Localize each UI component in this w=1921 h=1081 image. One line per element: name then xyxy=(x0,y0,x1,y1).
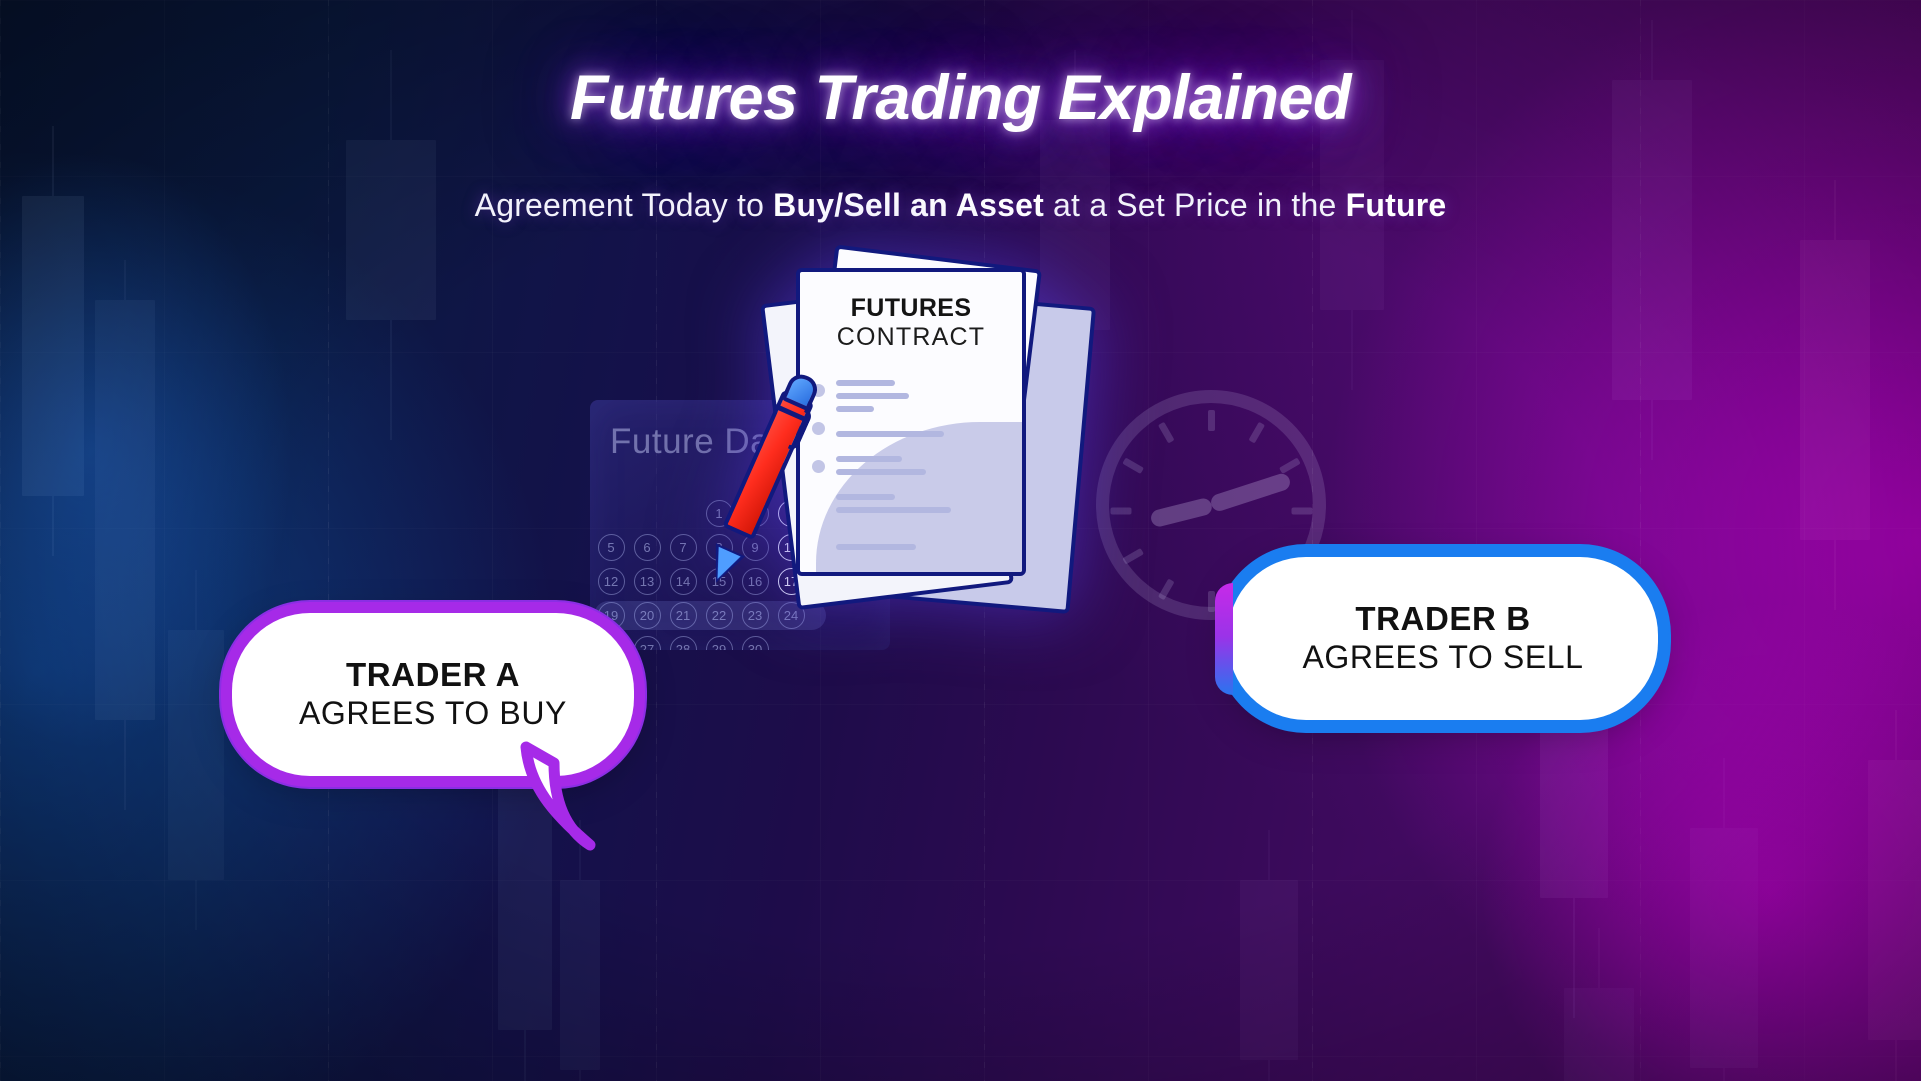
clock-hour-hand xyxy=(1149,497,1213,528)
subtitle-emphasis: Future xyxy=(1346,187,1447,223)
calendar-day-cell[interactable]: 14 xyxy=(666,568,700,594)
bubble-a-line1: TRADER A xyxy=(346,657,520,694)
clock-tick-mark xyxy=(1110,508,1131,515)
document-heading-secondary: CONTRACT xyxy=(800,323,1022,352)
clock-tick-mark xyxy=(1291,508,1312,515)
document-line-gap xyxy=(836,520,1010,532)
document-text-line xyxy=(836,406,874,412)
calendar-day-cell[interactable]: 29 xyxy=(702,636,736,650)
document-line-gap xyxy=(836,532,1010,544)
clock-tick-mark xyxy=(1248,422,1265,444)
calendar-day-cell[interactable]: 28 xyxy=(666,636,700,650)
calendar-day-cell[interactable]: 7 xyxy=(666,534,700,560)
speech-bubble-a-tail xyxy=(520,745,610,849)
calendar-day-cell[interactable]: 5 xyxy=(594,534,628,560)
clock-tick-mark xyxy=(1122,457,1144,474)
document-line-gap xyxy=(836,444,1010,456)
document-text-line xyxy=(836,431,944,437)
page-title: Futures Trading Explained xyxy=(0,62,1921,134)
clock-tick-mark xyxy=(1279,457,1301,474)
document-line-gap xyxy=(836,482,1010,494)
bubble-b-line1: TRADER B xyxy=(1355,601,1530,638)
clock-tick-mark xyxy=(1157,422,1174,444)
calendar-day-cell[interactable]: 13 xyxy=(630,568,664,594)
futures-contract-document: FUTURES CONTRACT xyxy=(760,272,1060,692)
document-text-line xyxy=(836,494,895,500)
clock-tick-mark xyxy=(1208,410,1215,431)
subtitle-text: Agreement Today to xyxy=(475,187,774,223)
document-text-line xyxy=(836,393,909,399)
calendar-day-cell[interactable]: 6 xyxy=(630,534,664,560)
page-subtitle: Agreement Today to Buy/Sell an Asset at … xyxy=(0,187,1921,224)
document-sheet-front: FUTURES CONTRACT xyxy=(796,268,1026,576)
clock-tick-mark xyxy=(1208,591,1215,612)
document-text-line xyxy=(836,507,951,513)
document-text-line xyxy=(836,380,895,386)
clock-minute-hand xyxy=(1208,472,1291,514)
clock-tick-mark xyxy=(1122,548,1144,565)
subtitle-emphasis: Buy/Sell an Asset xyxy=(773,187,1044,223)
calendar-empty-cell xyxy=(594,500,628,526)
clock-tick-mark xyxy=(1157,579,1174,601)
bubble-b-line2: AGREES TO SELL xyxy=(1302,638,1583,676)
document-text-line xyxy=(836,469,926,475)
calendar-day-cell[interactable]: 27 xyxy=(630,636,664,650)
document-text-line xyxy=(836,456,902,462)
document-text-lines xyxy=(836,380,1010,557)
subtitle-text: at a Set Price in the xyxy=(1044,187,1346,223)
bubble-a-line2: AGREES TO BUY xyxy=(299,694,567,732)
document-heading-primary: FUTURES xyxy=(800,294,1022,323)
document-text-line xyxy=(836,544,916,550)
infographic-canvas: Futures Trading Explained Agreement Toda… xyxy=(0,0,1921,1081)
document-line-gap xyxy=(836,419,1010,431)
calendar-day-cell[interactable]: 12 xyxy=(594,568,628,594)
calendar-empty-cell xyxy=(630,500,664,526)
speech-bubble-trader-b[interactable]: TRADER B AGREES TO SELL xyxy=(1228,557,1658,720)
calendar-empty-cell xyxy=(666,500,700,526)
